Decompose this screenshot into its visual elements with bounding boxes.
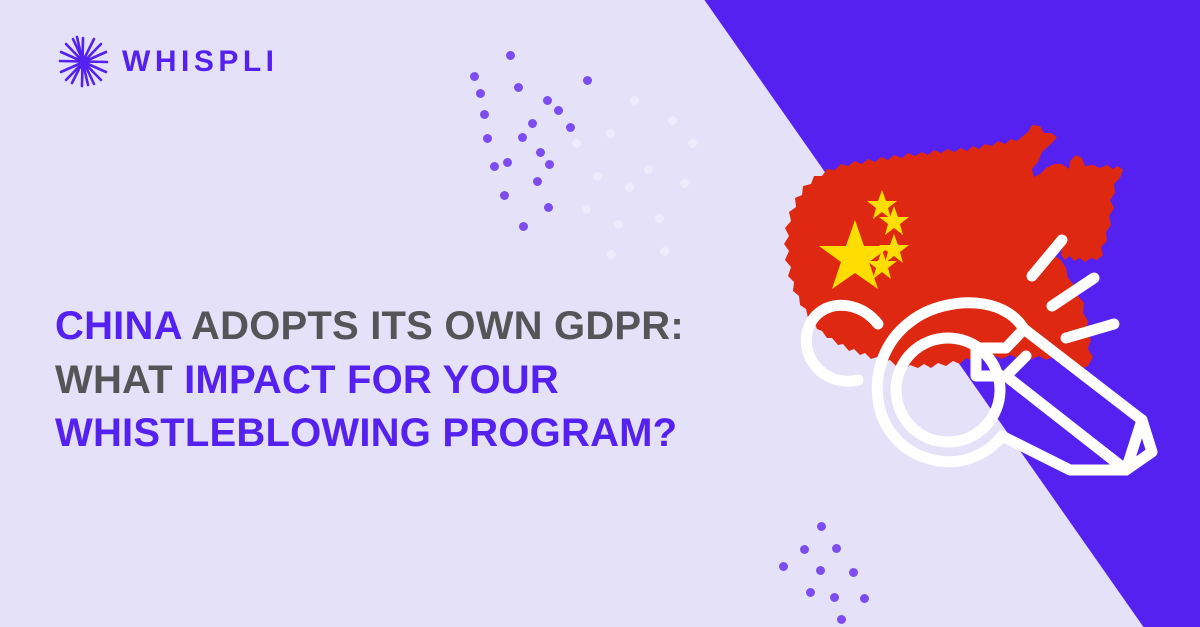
- decorative-dot: [593, 172, 602, 181]
- decorative-dot: [625, 183, 634, 192]
- decorative-dot: [816, 566, 825, 575]
- decorative-dot: [655, 214, 664, 223]
- decorative-dot: [832, 544, 841, 553]
- page-title-segment-1-1: CHINA: [55, 304, 181, 348]
- decorative-dot: [849, 568, 858, 577]
- decorative-dot: [817, 522, 826, 531]
- decorative-dot: [688, 139, 697, 148]
- decorative-dot: [583, 76, 592, 85]
- decorative-dot: [500, 191, 509, 200]
- decorative-dot: [800, 545, 809, 554]
- blog-banner-image: WHISPLI CHINA ADOPTS ITS OWN GDPR:WHAT I…: [0, 0, 1200, 627]
- decorative-dot: [490, 162, 499, 171]
- decorative-dot: [554, 106, 563, 115]
- china-map-with-whistle-illustration: [770, 108, 1170, 498]
- decorative-dot: [519, 222, 528, 231]
- decorative-dot: [528, 119, 537, 128]
- page-title-segment-1-2: ADOPTS ITS OWN GDPR:: [181, 304, 684, 348]
- decorative-dot: [806, 588, 815, 597]
- decorative-dot: [644, 165, 653, 174]
- decorative-dot: [607, 250, 616, 259]
- decorative-dot: [572, 139, 581, 148]
- decorative-dot: [830, 593, 839, 602]
- whispli-logo[interactable]: WHISPLI: [57, 33, 279, 91]
- decorative-dot: [476, 89, 485, 98]
- page-title-line-3: WHISTLEBLOWING PROGRAM?: [55, 407, 715, 461]
- page-title-segment-2-1: WHAT: [55, 358, 184, 402]
- decorative-dot: [779, 562, 788, 571]
- decorative-dot-cluster-top-right: [570, 95, 750, 255]
- decorative-dot: [506, 51, 515, 60]
- decorative-dot: [606, 129, 615, 138]
- decorative-dot: [668, 116, 677, 125]
- page-title-segment-2-2: IMPACT FOR YOUR: [184, 358, 559, 402]
- decorative-dot: [514, 83, 523, 92]
- decorative-dot: [480, 110, 489, 119]
- decorative-dot: [518, 133, 527, 142]
- page-title: CHINA ADOPTS ITS OWN GDPR:WHAT IMPACT FO…: [55, 300, 715, 461]
- decorative-dot: [860, 594, 869, 603]
- decorative-dot: [544, 203, 553, 212]
- decorative-dot-cluster-bottom: [760, 520, 945, 620]
- whispli-star-burst-logo-icon: [57, 35, 109, 89]
- decorative-dot: [545, 160, 554, 169]
- decorative-dot: [536, 148, 545, 157]
- decorative-dot: [614, 220, 623, 229]
- decorative-dot: [533, 177, 542, 186]
- decorative-dot: [630, 96, 639, 105]
- page-title-segment-3-1: WHISTLEBLOWING PROGRAM?: [55, 411, 677, 455]
- decorative-dot: [582, 205, 591, 214]
- decorative-dot: [503, 158, 512, 167]
- decorative-dot: [660, 247, 669, 256]
- page-title-line-2: WHAT IMPACT FOR YOUR: [55, 354, 715, 408]
- decorative-dot: [543, 96, 552, 105]
- decorative-dot: [470, 72, 479, 81]
- whispli-wordmark: WHISPLI: [122, 47, 279, 77]
- page-title-line-1: CHINA ADOPTS ITS OWN GDPR:: [55, 300, 715, 354]
- decorative-dot: [680, 179, 689, 188]
- decorative-dot: [837, 615, 846, 624]
- decorative-dot: [483, 134, 492, 143]
